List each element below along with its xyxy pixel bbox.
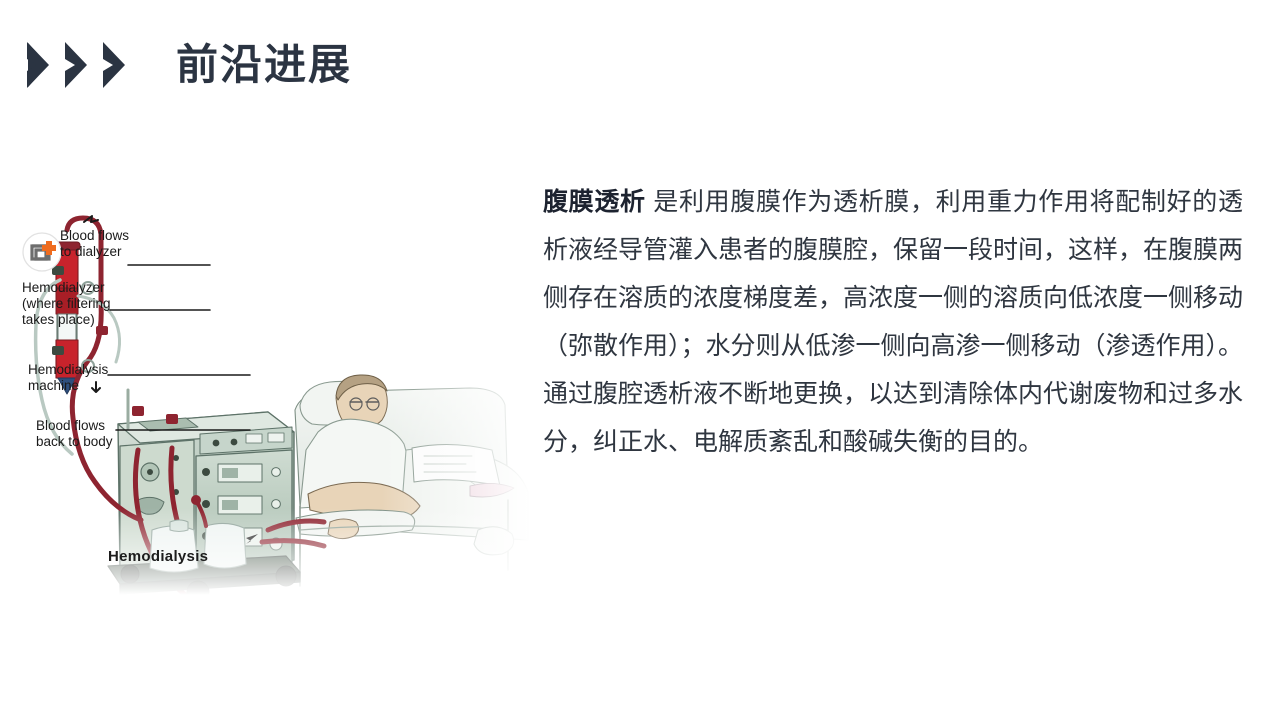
page-title: 前沿进展 [176,44,352,86]
figure-label-line: Blood flows [36,418,113,434]
figure-label-line: machine [28,378,108,394]
figure-label-line: Blood flows [60,228,129,244]
figure-label-hemodialyzer: Hemodialyzer (where filtering takes plac… [22,280,111,328]
body-paragraph: 腹膜透析 是利用腹膜作为透析膜，利用重力作用将配制好的透析液经导管灌入患者的腹膜… [543,178,1243,466]
figure-label-blood-to-dialyzer: Blood flows to dialyzer [60,228,129,260]
figure-label-line: Hemodialyzer [22,280,111,296]
medical-cross-logo-icon [22,232,62,272]
figure-label-blood-back-to-body: Blood flows back to body [36,418,113,450]
slide-root: 前沿进展 [0,0,1280,720]
figure-caption: Hemodialysis [108,548,208,565]
triple-chevron-right-icon [26,41,138,89]
paragraph-lead-term: 腹膜透析 [543,188,646,216]
slide-header: 前沿进展 [0,30,1280,100]
figure-label-line: takes place) [22,312,111,328]
figure-label-line: to dialyzer [60,244,129,260]
figure-label-hemodialysis-machine: Hemodialysis machine [28,362,108,394]
figure-label-line: Hemodialysis [28,362,108,378]
paragraph-text: 是利用腹膜作为透析膜，利用重力作用将配制好的透析液经导管灌入患者的腹膜腔，保留一… [543,188,1243,456]
figure-label-line: back to body [36,434,113,450]
figure-label-line: (where filtering [22,296,111,312]
